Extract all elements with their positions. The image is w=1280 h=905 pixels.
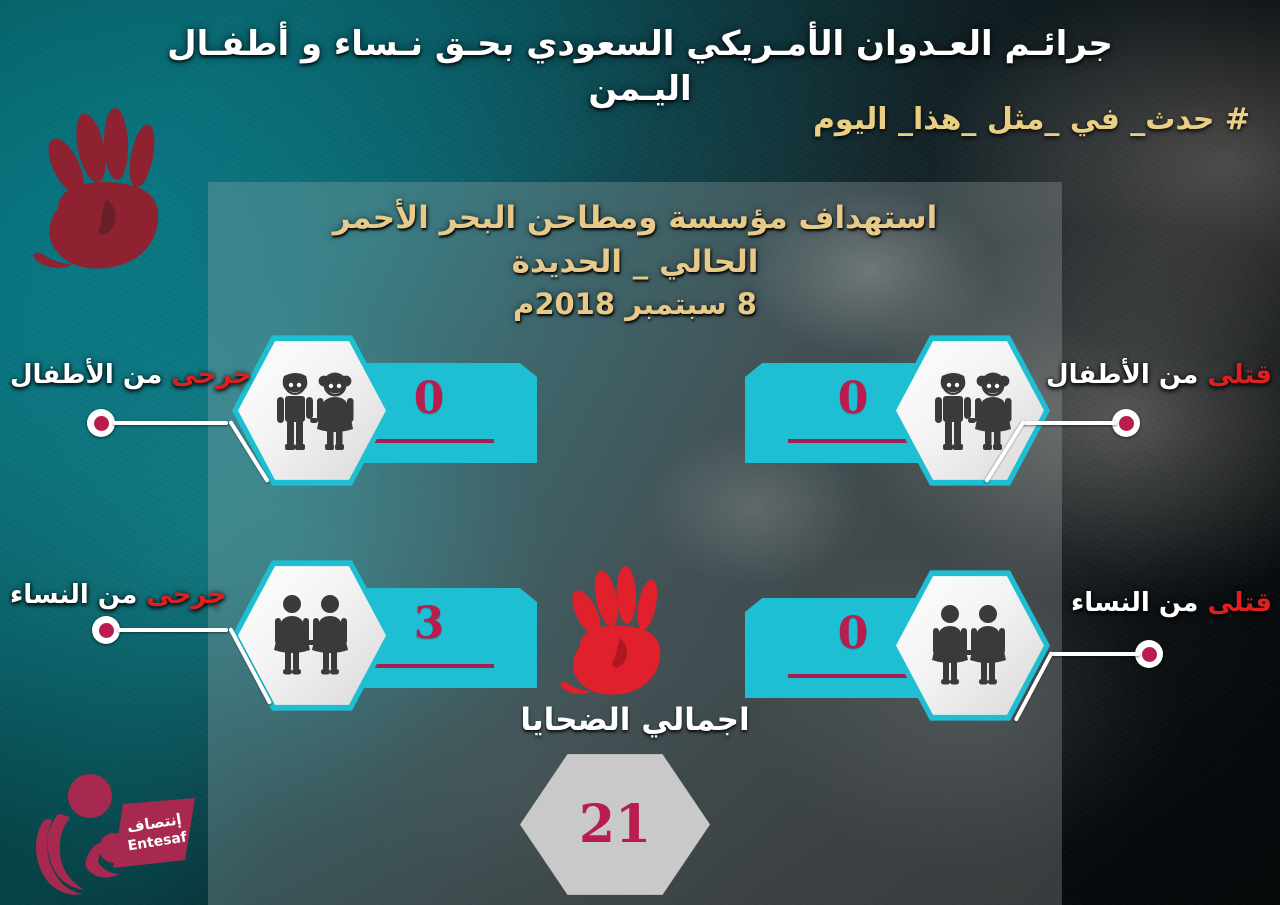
connector-line-killed-children bbox=[1022, 421, 1117, 425]
label-injured-women-kind: جرحى bbox=[146, 580, 226, 610]
stat-injured-women[interactable]: 3 bbox=[232, 558, 537, 713]
label-killed-children: قتلى من الأطفال bbox=[1046, 360, 1272, 390]
connector-line-injured-children bbox=[113, 421, 228, 425]
infographic-canvas: جرائـم العـدوان الأمـريكي السعودي بحـق ن… bbox=[0, 0, 1280, 905]
boy-girl-pictogram-icon bbox=[890, 333, 1050, 488]
stat-killed-children[interactable]: 0 bbox=[745, 333, 1050, 488]
stat-hex bbox=[890, 333, 1050, 488]
hashtag-label: # حدث_ في _مثل _هذا_ اليوم bbox=[813, 102, 1250, 137]
label-injured-women-group: من النساء bbox=[10, 580, 137, 610]
connector-line-killed-women bbox=[1050, 652, 1140, 656]
connector-line-injured-women bbox=[118, 628, 228, 632]
event-date: 8 سبتمبر 2018م bbox=[208, 284, 1062, 325]
stat-killed-women[interactable]: 0 bbox=[745, 568, 1050, 723]
event-subtitle: استهداف مؤسسة ومطاحن البحر الأحمر الحالي… bbox=[208, 196, 1062, 325]
label-killed-children-group: من الأطفال bbox=[1046, 360, 1198, 390]
label-killed-children-kind: قتلى bbox=[1207, 360, 1272, 390]
entesaf-logo[interactable]: إنتصاف Entesaf bbox=[28, 768, 198, 896]
handprint-icon-left bbox=[28, 104, 178, 284]
event-target-line: استهداف مؤسسة ومطاحن البحر الأحمر bbox=[208, 196, 1062, 240]
label-killed-women-group: من النساء bbox=[1071, 588, 1198, 618]
total-victims-value: 21 bbox=[579, 794, 651, 855]
connector-dot-injured-women bbox=[92, 616, 120, 644]
label-injured-children-kind: جرحى bbox=[171, 360, 251, 390]
page-title-line1: جرائـم العـدوان الأمـريكي السعودي بحـق ن… bbox=[0, 22, 1280, 67]
total-victims-label: اجمالي الضحايا bbox=[208, 702, 1062, 738]
label-killed-women-kind: قتلى bbox=[1207, 588, 1272, 618]
handprint-icon-center bbox=[556, 560, 676, 710]
label-killed-women: قتلى من النساء bbox=[1071, 588, 1272, 618]
stat-injured-children[interactable]: 0 bbox=[232, 333, 537, 488]
stat-hex bbox=[232, 558, 392, 713]
connector-dot-injured-children bbox=[87, 409, 115, 437]
label-injured-women: جرحى من النساء bbox=[10, 580, 226, 610]
label-injured-children-group: من الأطفال bbox=[10, 360, 162, 390]
page-title: جرائـم العـدوان الأمـريكي السعودي بحـق ن… bbox=[0, 22, 1280, 112]
event-location-line: الحالي _ الحديدة bbox=[208, 240, 1062, 284]
two-women-pictogram-icon bbox=[232, 558, 392, 713]
label-injured-children: جرحى من الأطفال bbox=[10, 360, 251, 390]
